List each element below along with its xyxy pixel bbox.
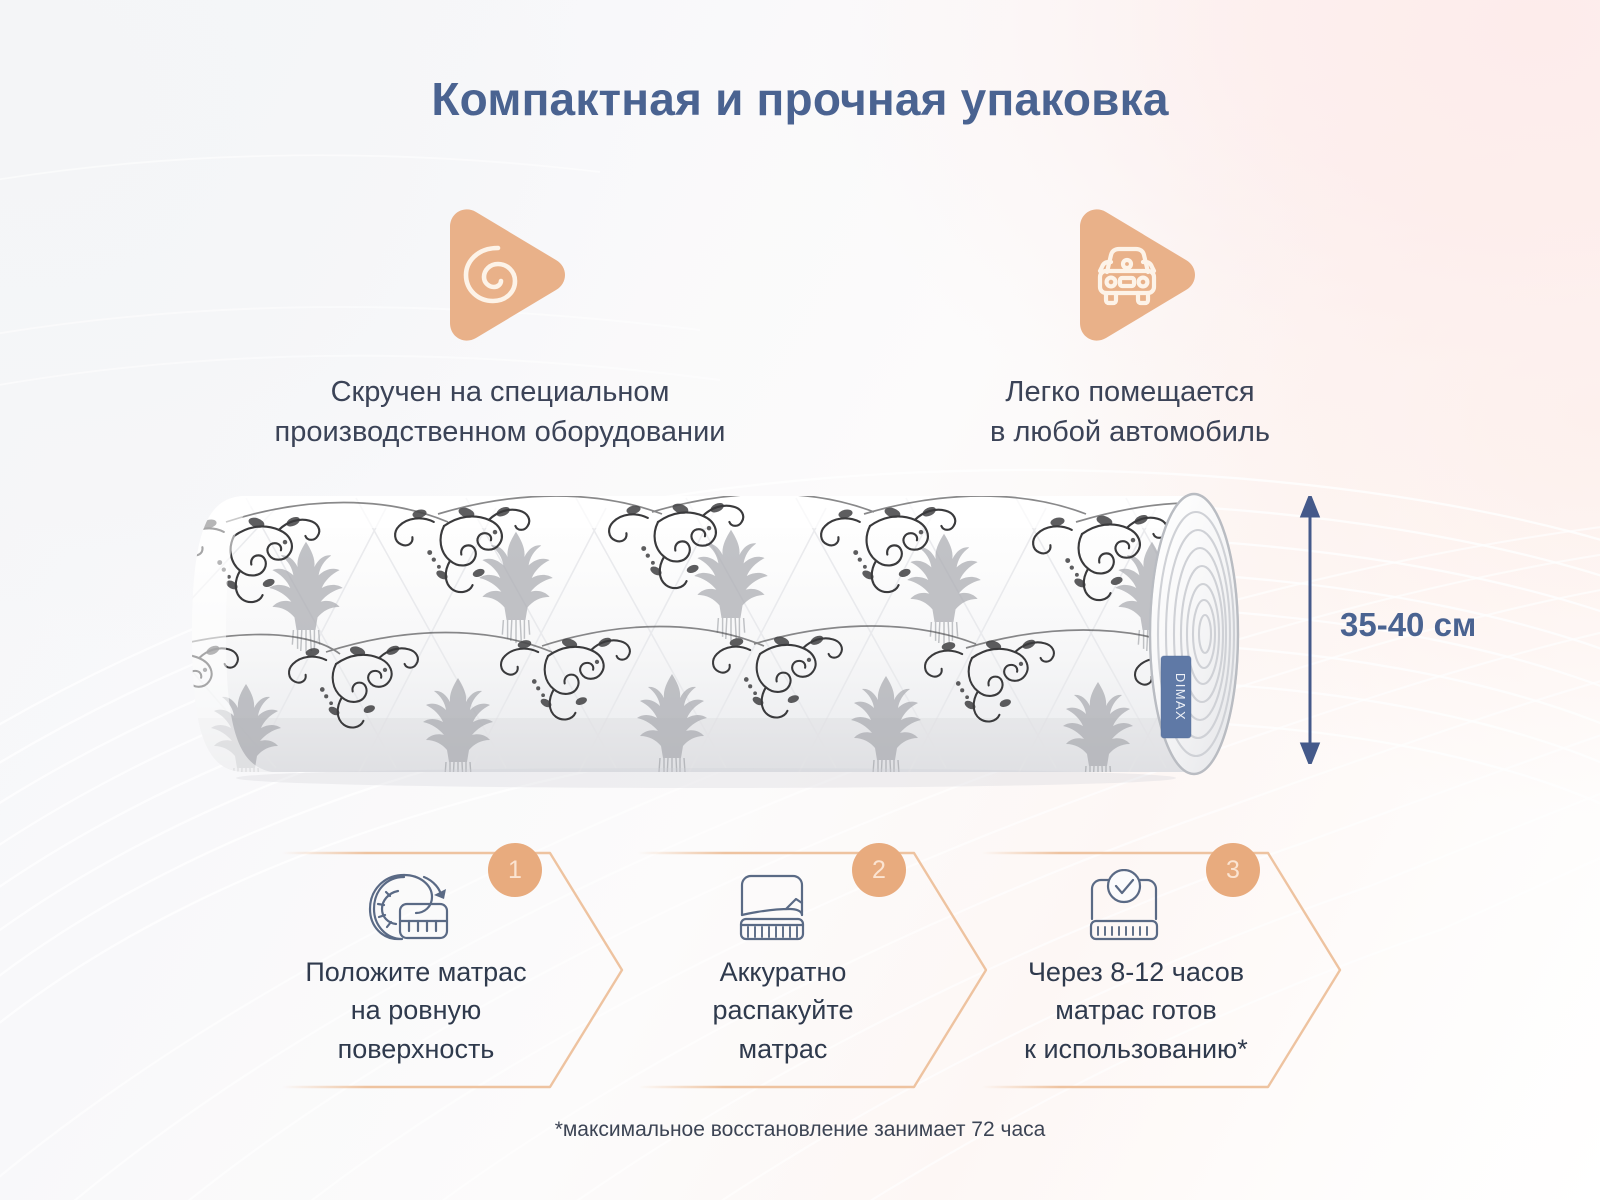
brand-tag: DIMAX (1161, 656, 1191, 738)
step-item-3[interactable]: 3 (982, 845, 1354, 1095)
spiral-roll-icon (426, 205, 574, 345)
step-item-2[interactable]: 2 (638, 845, 1010, 1095)
step-label: Положите матрас на ровную поверхность (266, 953, 566, 1068)
dimension-arrow (1290, 496, 1330, 764)
steps-section: 1 (282, 845, 1342, 1095)
infographic-root: Компактная и прочная упаковка Скручен на… (0, 0, 1600, 1200)
dimension-label: 35-40 см (1340, 606, 1476, 644)
page-title: Компактная и прочная упаковка (0, 72, 1600, 126)
footnote-text: *максимальное восстановление занимает 72… (0, 1118, 1600, 1142)
rolled-mattress-image: DIMAX (186, 478, 1252, 790)
feature-icon-wrap (180, 200, 820, 350)
step-item-1[interactable]: 1 (282, 845, 654, 1095)
car-icon (1056, 205, 1204, 345)
feature-item-twisted: Скручен на специальном производственном … (180, 200, 820, 452)
step-label: Через 8-12 часов матрас готов к использо… (976, 953, 1296, 1068)
step-label: Аккуратно распакуйте матрас (638, 953, 928, 1068)
feature-item-car: Легко помещается в любой автомобиль (830, 200, 1430, 452)
svg-text:DIMAX: DIMAX (1173, 673, 1188, 721)
step-number-badge: 2 (852, 843, 906, 897)
mattress-unpack-icon (726, 869, 818, 947)
mattress-check-icon (1078, 869, 1170, 947)
feature-label: Скручен на специальном производственном … (180, 372, 820, 452)
measuring-tape-icon (364, 869, 456, 947)
step-number-badge: 3 (1206, 843, 1260, 897)
feature-icon-wrap (830, 200, 1430, 350)
step-number-badge: 1 (488, 843, 542, 897)
feature-label: Легко помещается в любой автомобиль (830, 372, 1430, 452)
